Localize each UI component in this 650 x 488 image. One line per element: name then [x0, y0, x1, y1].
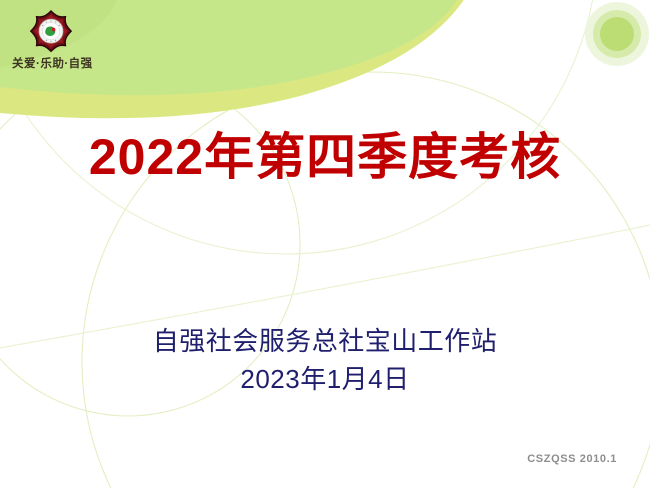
- subtitle-organization: 自强社会服务总社宝山工作站: [0, 322, 650, 360]
- slide-background-decoration: [0, 0, 650, 488]
- presentation-slide: 关爱·乐助·自强 2022年第四季度考核 自强社会服务总社宝山工作站 2023年…: [0, 0, 650, 488]
- corner-circle-inner: [600, 17, 634, 51]
- slide-subtitle-block: 自强社会服务总社宝山工作站 2023年1月4日: [0, 322, 650, 398]
- subtitle-date: 2023年1月4日: [0, 360, 650, 398]
- organization-tagline: 关爱·乐助·自强: [12, 55, 93, 71]
- slide-title: 2022年第四季度考核: [0, 126, 650, 188]
- slide-footer-code: CSZQSS 2010.1: [527, 453, 617, 465]
- organization-logo: [27, 10, 75, 58]
- maltese-cross-badge-icon: [27, 10, 75, 58]
